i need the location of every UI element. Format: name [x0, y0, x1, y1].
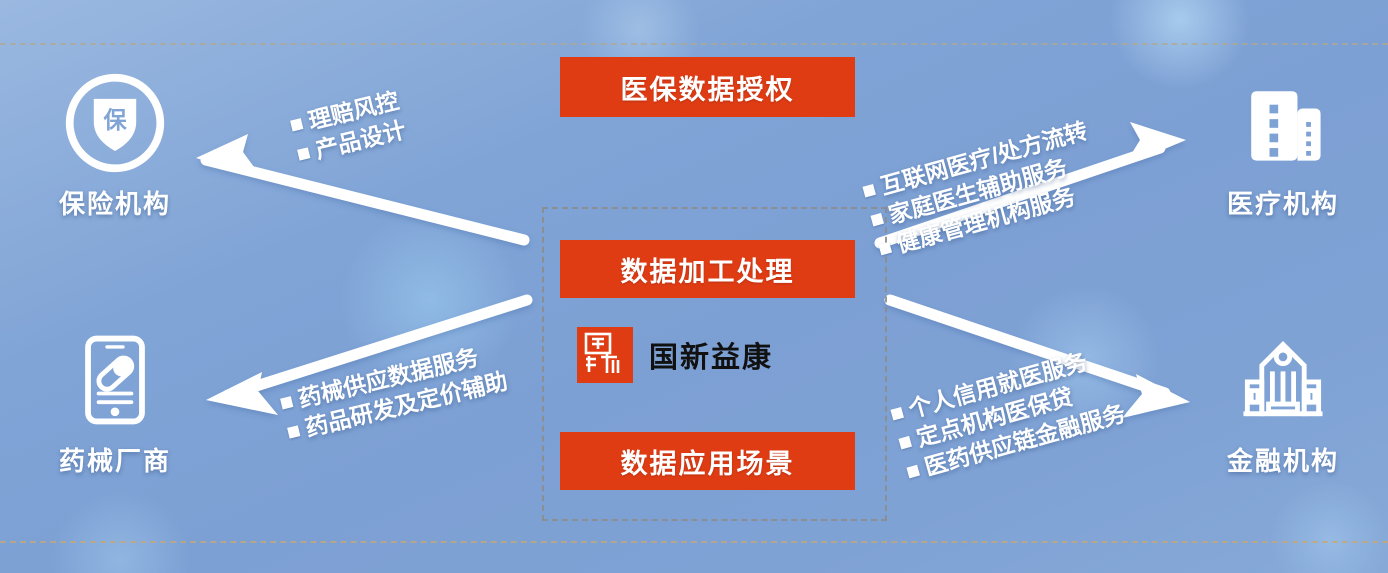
banner-data-processing[interactable]: 数据加工处理	[560, 240, 855, 298]
flow-labels-medical: 互联网医疗/处方流转 家庭医生辅助服务 健康管理机构服务	[860, 116, 1107, 264]
node-medical[interactable]: 医疗机构	[1178, 68, 1388, 221]
bullet-square-icon	[879, 242, 893, 256]
dashed-rule-bottom	[0, 541, 1388, 543]
bullet-square-icon	[287, 426, 300, 439]
node-insurance[interactable]: 保 保险机构	[10, 68, 220, 221]
bullet-square-icon	[871, 213, 885, 227]
diagram-canvas: 医保数据授权 数据加工处理 数据应用场景 国新益康 保 保险机构	[0, 0, 1388, 573]
hospital-building-icon	[1228, 68, 1338, 178]
brand-name-text: 国新益康	[649, 334, 773, 376]
phone-pill-icon	[60, 325, 170, 435]
bullet-square-icon	[907, 465, 921, 479]
bullet-square-icon	[891, 407, 905, 421]
node-pharma[interactable]: 药械厂商	[10, 325, 220, 478]
bank-building-icon	[1228, 325, 1338, 435]
brand-block: 国新益康	[577, 327, 837, 383]
bullet-square-icon	[280, 397, 293, 410]
node-finance-label: 金融机构	[1227, 441, 1339, 478]
bullet-square-icon	[297, 148, 310, 161]
node-pharma-label: 药械厂商	[59, 441, 171, 478]
node-insurance-label: 保险机构	[59, 184, 171, 221]
banner-data-application[interactable]: 数据应用场景	[560, 432, 855, 490]
shield-circle-icon: 保	[60, 68, 170, 178]
brand-logo-icon	[577, 327, 633, 383]
node-medical-label: 医疗机构	[1227, 184, 1339, 221]
flow-labels-pharma: 药械供应数据服务 药品研发及定价辅助	[278, 337, 511, 448]
bullet-square-icon	[863, 184, 877, 198]
dashed-rule-top	[0, 43, 1388, 45]
svg-text:保: 保	[103, 107, 127, 133]
flow-labels-finance: 个人信用就医服务 定点机构医保贷 医药供应链金融服务	[888, 341, 1129, 488]
node-finance[interactable]: 金融机构	[1178, 325, 1388, 478]
bullet-square-icon	[290, 119, 303, 132]
banner-data-authorization[interactable]: 医保数据授权	[560, 57, 855, 117]
bullet-square-icon	[899, 436, 913, 450]
flow-labels-insurance: 理赔风控 产品设计	[288, 86, 409, 170]
